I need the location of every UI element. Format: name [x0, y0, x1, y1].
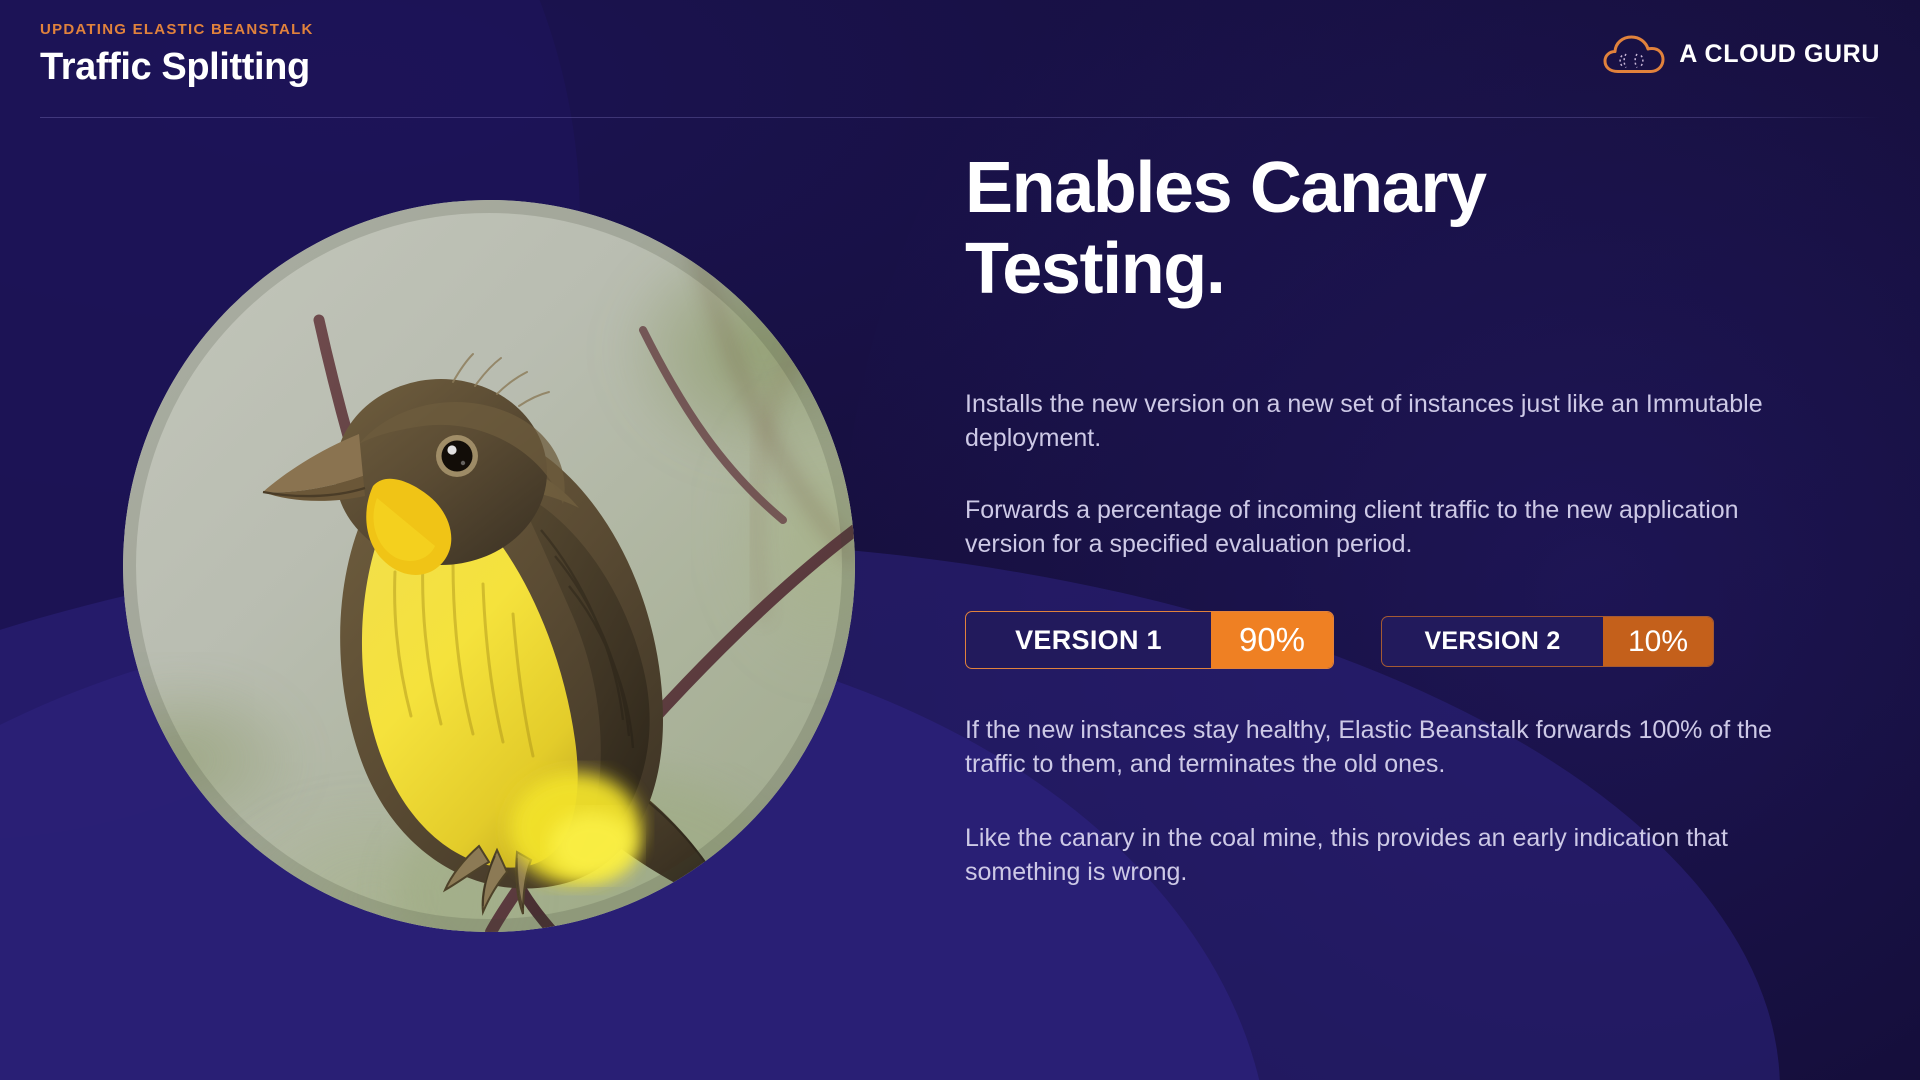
body-paragraph-2: Forwards a percentage of incoming client… — [965, 493, 1777, 561]
slide-header: UPDATING ELASTIC BEANSTALK Traffic Split… — [0, 0, 1920, 118]
cloud-outline-icon — [1603, 33, 1665, 75]
traffic-split-badges: VERSION 1 90% VERSION 2 10% — [965, 611, 1805, 669]
version-2-label: VERSION 2 — [1382, 617, 1603, 666]
main-headline: Enables Canary Testing. — [965, 148, 1605, 309]
version-2-badge[interactable]: VERSION 2 10% — [1381, 616, 1714, 667]
header-divider — [40, 117, 1880, 118]
version-2-percentage: 10% — [1603, 617, 1713, 666]
slide-kicker: UPDATING ELASTIC BEANSTALK — [40, 22, 314, 37]
body-paragraph-3: If the new instances stay healthy, Elast… — [965, 713, 1777, 781]
version-1-label: VERSION 1 — [966, 612, 1211, 668]
slide-content: Enables Canary Testing. Installs the new… — [965, 148, 1805, 889]
page-title: Traffic Splitting — [40, 48, 314, 88]
brand-name: A CLOUD GURU — [1679, 40, 1880, 69]
header-title-group: UPDATING ELASTIC BEANSTALK Traffic Split… — [40, 22, 314, 88]
version-1-badge[interactable]: VERSION 1 90% — [965, 611, 1334, 669]
canary-bird-photo — [123, 200, 855, 932]
brand-lockup: A CLOUD GURU — [1603, 33, 1880, 75]
body-paragraph-1: Installs the new version on a new set of… — [965, 387, 1777, 455]
version-1-percentage: 90% — [1211, 612, 1333, 668]
body-paragraph-4: Like the canary in the coal mine, this p… — [965, 821, 1777, 889]
presentation-slide: UPDATING ELASTIC BEANSTALK Traffic Split… — [0, 0, 1920, 1080]
